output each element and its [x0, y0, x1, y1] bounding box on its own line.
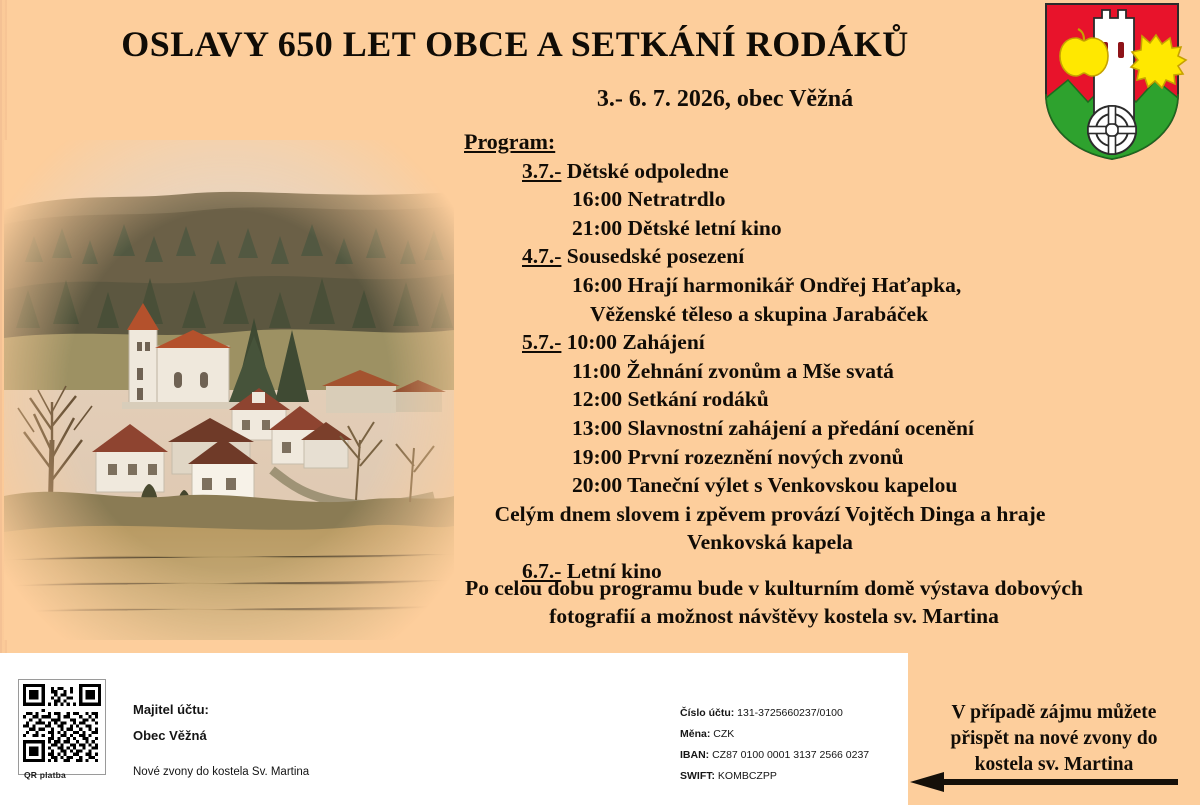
program-entry-text: Věženské těleso a skupina Jarabáček	[590, 302, 928, 326]
program-entry-date: 5.7.-	[522, 328, 561, 357]
program-note-line1: Po celou dobu programu bude v kulturním …	[440, 574, 1108, 602]
program-entry: 3.7.- Dětské odpoledne	[522, 157, 1140, 186]
account-detail-label: Měna:	[680, 728, 710, 740]
program-entry-text: Dětské odpoledne	[567, 159, 729, 183]
program-entry: 16:00 Netratrdlo	[572, 185, 1140, 214]
account-detail-row: Číslo účtu: 131-3725660237/0100	[680, 703, 869, 724]
program-entry: 16:00 Hrají harmonikář Ondřej Haťapka,	[572, 271, 1140, 300]
program-list: 3.7.- Dětské odpoledne16:00 Netratrdlo21…	[440, 157, 1140, 586]
account-detail-row: SWIFT: KOMBCZPP	[680, 766, 869, 787]
program-note: Po celou dobu programu bude v kulturním …	[440, 574, 1108, 630]
program-entry-text: 16:00 Hrají harmonikář Ondřej Haťapka,	[572, 273, 961, 297]
program-entry-text: 11:00 Žehnání zvonům a Mše svatá	[572, 359, 894, 383]
account-detail-label: Číslo účtu:	[680, 707, 734, 719]
program-block: Program: 3.7.- Dětské odpoledne16:00 Net…	[440, 128, 1140, 586]
account-holder-name: Obec Věžná	[133, 723, 309, 749]
poster-canvas: OSLAVY 650 LET OBCE A SETKÁNÍ RODÁKŮ 3.-…	[0, 0, 1200, 805]
account-detail-row: Měna: CZK	[680, 724, 869, 745]
qr-code-image[interactable]	[18, 679, 106, 775]
program-entry: Věženské těleso a skupina Jarabáček	[590, 300, 1140, 329]
event-date-location: 3.- 6. 7. 2026, obec Věžná	[430, 86, 1020, 113]
account-holder-block: Majitel účtu: Obec Věžná Nové zvony do k…	[133, 697, 309, 778]
donation-appeal-line1: V případě zájmu můžete	[915, 700, 1193, 726]
program-entry-text: Sousedské posezení	[567, 244, 744, 268]
program-entry-date: 3.7.-	[522, 157, 561, 186]
account-detail-label: IBAN:	[680, 749, 709, 761]
account-detail-value: KOMBCZPP	[715, 770, 777, 782]
account-detail-value: CZK	[710, 728, 734, 740]
program-entry: 11:00 Žehnání zvonům a Mše svatá	[572, 357, 1140, 386]
program-entry: 20:00 Taneční výlet s Venkovskou kapelou	[572, 471, 1140, 500]
page-title: OSLAVY 650 LET OBCE A SETKÁNÍ RODÁKŮ	[0, 26, 1030, 64]
village-photo	[4, 140, 454, 640]
program-entry-text: 10:00 Zahájení	[567, 330, 705, 354]
donation-appeal: V případě zájmu můžete přispět na nové z…	[915, 700, 1193, 778]
account-detail-value: CZ87 0100 0001 3137 2566 0237	[709, 749, 869, 761]
account-details-list: Číslo účtu: 131-3725660237/0100Měna: CZK…	[680, 703, 869, 787]
program-entry: 13:00 Slavnostní zahájení a předání ocen…	[572, 414, 1140, 443]
account-detail-value: 131-3725660237/0100	[734, 707, 843, 719]
bank-details-bar: QR platba Majitel účtu: Obec Věžná Nové …	[0, 653, 908, 805]
program-entry: 12:00 Setkání rodáků	[572, 385, 1140, 414]
program-entry-text: 16:00 Netratrdlo	[572, 187, 725, 211]
account-holder-label: Majitel účtu:	[133, 697, 309, 723]
program-note-line2: fotografií a možnost návštěvy kostela sv…	[440, 602, 1108, 630]
program-entry-date: 4.7.-	[522, 242, 561, 271]
left-arrow-icon	[910, 772, 1178, 792]
program-entry: 4.7.- Sousedské posezení	[522, 242, 1140, 271]
program-entry-text: Celým dnem slovem i zpěvem provází Vojtě…	[495, 502, 1046, 526]
program-entry-text: 20:00 Taneční výlet s Venkovskou kapelou	[572, 473, 957, 497]
donation-appeal-line2: přispět na nové zvony do	[915, 726, 1193, 752]
program-heading: Program:	[464, 128, 1140, 157]
program-entry: 21:00 Dětské letní kino	[572, 214, 1140, 243]
program-entry: Celým dnem slovem i zpěvem provází Vojtě…	[440, 500, 1100, 529]
qr-code-caption: QR platba	[24, 770, 66, 780]
account-detail-row: IBAN: CZ87 0100 0001 3137 2566 0237	[680, 745, 869, 766]
program-entry-text: Venkovská kapela	[687, 530, 853, 554]
program-entry-text: 13:00 Slavnostní zahájení a předání ocen…	[572, 416, 974, 440]
program-entry-text: 19:00 První rozeznění nových zvonů	[572, 445, 904, 469]
program-entry: Venkovská kapela	[440, 528, 1100, 557]
program-entry-text: 21:00 Dětské letní kino	[572, 216, 782, 240]
program-entry-text: 12:00 Setkání rodáků	[572, 387, 769, 411]
payment-purpose: Nové zvony do kostela Sv. Martina	[133, 766, 309, 778]
program-entry: 5.7.- 10:00 Zahájení	[522, 328, 1140, 357]
program-entry: 19:00 První rozeznění nových zvonů	[572, 443, 1140, 472]
account-detail-label: SWIFT:	[680, 770, 715, 782]
